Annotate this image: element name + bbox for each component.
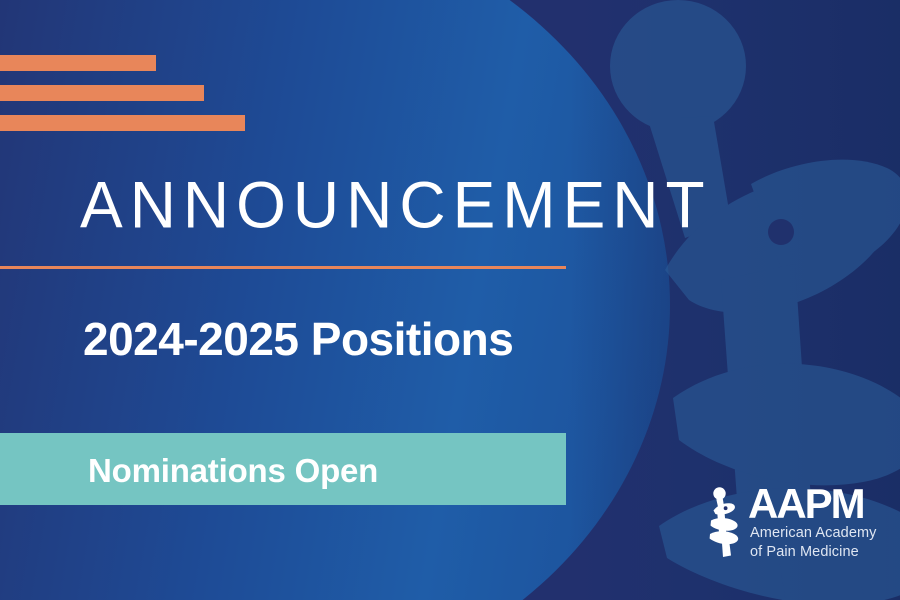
announcement-card: ANNOUNCEMENT 2024-2025 Positions Nominat… (0, 0, 900, 600)
aapm-tagline: American Academy of Pain Medicine (750, 524, 877, 561)
decorative-bar-2 (0, 85, 204, 101)
aapm-tagline-line-1: American Academy (750, 524, 877, 543)
aapm-logo: AAPM American Academy of Pain Medicine (700, 483, 885, 563)
decorative-bar-1 (0, 55, 156, 71)
aapm-wordmark: AAPM (748, 483, 864, 525)
subheading: 2024-2025 Positions (83, 314, 513, 365)
aapm-tagline-line-2: of Pain Medicine (750, 543, 877, 562)
aapm-caduceus-icon (700, 485, 746, 559)
page-title: ANNOUNCEMENT (80, 172, 712, 238)
decorative-bar-3 (0, 115, 245, 131)
orange-divider-rule (0, 266, 566, 269)
nominations-banner-label: Nominations Open (88, 452, 378, 490)
